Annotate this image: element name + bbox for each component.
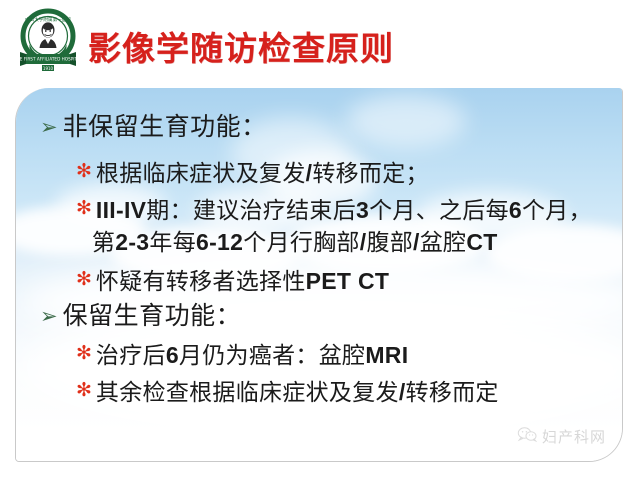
bullet-level1-2-label: 保留生育功能：: [63, 303, 242, 331]
university-hospital-emblem-icon: 中山大学附属第一医院: [14, 8, 86, 74]
slide: 中山大学附属第一医院: [0, 0, 640, 480]
bullet-level2-1-1: ✻ 根据临床症状及复发/转移而定；: [76, 158, 429, 190]
bullet-level1-2: ➢ 保留生育功能：: [40, 303, 241, 331]
bullet-level2-2-2-label: 其余检查根据临床症状及复发/转移而定: [96, 377, 499, 409]
slide-header: 中山大学附属第一医院: [0, 0, 640, 88]
svg-text:THE FIRST AFFILIATED HOSPITAL: THE FIRST AFFILIATED HOSPITAL: [14, 57, 83, 62]
bullet-level2-1-2-label: III-IV期：建议治疗结束后3个月、之后每6个月， 第2-3年每6-12个月行…: [96, 195, 592, 258]
bullet-level2-2-1: ✻ 治疗后6月仍为癌者：盆腔MRI: [76, 340, 408, 372]
bullet-level2-1-1-label: 根据临床症状及复发/转移而定；: [96, 158, 429, 190]
asterisk-bullet-icon: ✻: [76, 270, 92, 289]
watermark-label: 妇产科网: [542, 426, 606, 447]
watermark: 妇产科网: [517, 426, 606, 447]
asterisk-bullet-icon: ✻: [76, 344, 92, 363]
slide-body: ➢ 非保留生育功能： ✻ 根据临床症状及复发/转移而定； ✻ III-IV期：建…: [16, 88, 622, 461]
asterisk-bullet-icon: ✻: [76, 199, 92, 218]
bullet-level1-1: ➢ 非保留生育功能：: [40, 114, 267, 142]
svg-text:1910: 1910: [43, 66, 54, 71]
content-panel: ➢ 非保留生育功能： ✻ 根据临床症状及复发/转移而定； ✻ III-IV期：建…: [15, 88, 623, 462]
svg-text:中山大学附属第一医院: 中山大学附属第一医院: [25, 16, 71, 23]
bullet-level2-1-2: ✻ III-IV期：建议治疗结束后3个月、之后每6个月， 第2-3年每6-12个…: [76, 195, 592, 258]
bullet-level1-1-label: 非保留生育功能：: [63, 114, 267, 142]
asterisk-bullet-icon: ✻: [76, 162, 92, 181]
bullet-level2-1-3-label: 怀疑有转移者选择性PET CT: [96, 266, 389, 298]
bullet-level2-2-2: ✻ 其余检查根据临床症状及复发/转移而定: [76, 377, 499, 409]
arrow-bullet-icon: ➢: [40, 117, 58, 138]
bullet-level2-2-1-label: 治疗后6月仍为癌者：盆腔MRI: [96, 340, 408, 372]
asterisk-bullet-icon: ✻: [76, 381, 92, 400]
page-title: 影像学随访检查原则: [88, 22, 394, 70]
bullet-level2-1-3: ✻ 怀疑有转移者选择性PET CT: [76, 266, 389, 298]
wechat-icon: [517, 427, 537, 447]
arrow-bullet-icon: ➢: [40, 306, 58, 327]
